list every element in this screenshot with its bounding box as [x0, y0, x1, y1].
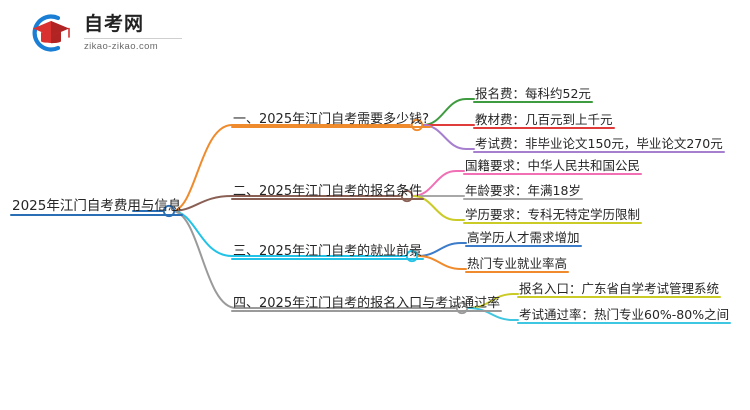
mindmap-branch-1-child-1-underline [473, 101, 593, 103]
mindmap-branch-2-child-2-underline [463, 198, 583, 200]
site-logo[interactable]: 自考网 zikao-zikao.com [28, 12, 182, 54]
graduation-cap-logo-icon [28, 12, 74, 54]
mindmap-branch-4-child-2[interactable]: 考试通过率：热门专业60%-80%之间 [517, 309, 731, 324]
mindmap-branch-2[interactable]: 二、2025年江门自考的报名条件 [231, 185, 424, 200]
mindmap-branch-1-child-2-underline [473, 127, 615, 129]
mindmap-branch-2-child-1[interactable]: 国籍要求：中华人民共和国公民 [463, 160, 642, 175]
mindmap-branch-1-child-3-underline [473, 151, 725, 153]
mindmap-branch-2-underline [231, 198, 424, 200]
mindmap-branch-1-child-3[interactable]: 考试费：非毕业论文150元，毕业论文270元 [473, 138, 725, 153]
mindmap-branch-3-underline [231, 258, 424, 260]
mindmap-branch-3-child-1[interactable]: 高学历人才需求增加 [465, 232, 582, 247]
mindmap-branch-4-underline [231, 310, 502, 312]
mindmap-branch-2-child-3[interactable]: 学历要求：专科无特定学历限制 [463, 209, 642, 224]
mindmap-branch-3[interactable]: 三、2025年江门自考的就业前景 [231, 245, 424, 260]
mindmap-branch-4[interactable]: 四、2025年江门自考的报名入口与考试通过率 [231, 297, 502, 312]
mindmap-branch-1-child-1[interactable]: 报名费：每科约52元 [473, 88, 593, 103]
connector-branch-3-child-1 [418, 243, 466, 256]
mindmap-root-node[interactable]: 2025年江门自考费用与信息 [10, 200, 183, 216]
mindmap-branch-4-child-1-underline [517, 296, 721, 298]
connector-branch-3-child-2 [418, 256, 466, 269]
mindmap-root-underline [10, 214, 183, 216]
mindmap-branch-3-child-1-underline [465, 245, 582, 247]
mindmap-branch-4-child-1[interactable]: 报名入口：广东省自学考试管理系统 [517, 283, 721, 298]
mindmap-branch-2-child-2[interactable]: 年龄要求：年满18岁 [463, 185, 583, 200]
logo-domain: zikao-zikao.com [84, 42, 182, 52]
logo-divider [84, 38, 182, 39]
mindmap-branch-3-child-2[interactable]: 热门专业就业率高 [465, 258, 569, 273]
connector-branch-1-child-3 [423, 125, 474, 149]
mindmap-branch-3-child-2-underline [465, 271, 569, 273]
mindmap-branch-1-child-2[interactable]: 教材费：几百元到上千元 [473, 114, 615, 129]
mindmap-branch-4-child-2-underline [517, 322, 731, 324]
mindmap-branch-2-child-3-underline [463, 222, 642, 224]
logo-title: 自考网 [84, 15, 182, 34]
mindmap-branch-1-underline [231, 126, 431, 128]
mindmap-branch-1[interactable]: 一、2025年江门自考需要多少钱? [231, 113, 431, 128]
mindmap-branch-2-child-1-underline [463, 173, 642, 175]
